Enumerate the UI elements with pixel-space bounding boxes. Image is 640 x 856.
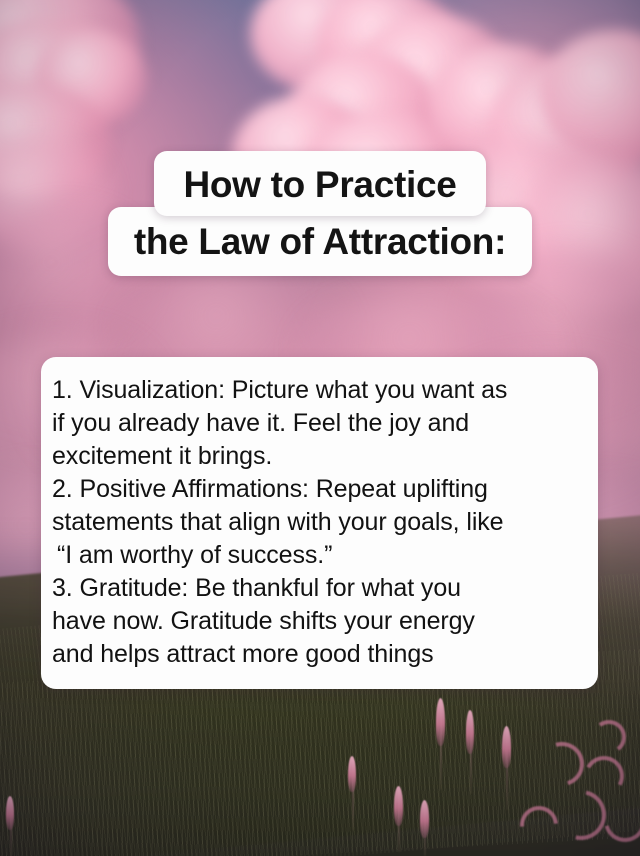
title-line-1: How to Practice: [154, 151, 485, 216]
tip-line: 2. Positive Affirmations: Repeat uplifti…: [52, 473, 578, 506]
title-block: How to Practice the Law of Attraction:: [0, 151, 640, 276]
tips-card: 1. Visualization: Picture what you want …: [41, 357, 598, 689]
tip-line: and helps attract more good things: [52, 638, 578, 671]
tip-line: have now. Gratitude shifts your energy: [52, 605, 578, 638]
flower-spike: [6, 796, 14, 830]
tip-line: if you already have it. Feel the joy and: [52, 407, 578, 440]
poster-canvas: How to Practice the Law of Attraction: 1…: [0, 0, 640, 856]
tip-line: “I am worthy of success.”: [52, 539, 578, 572]
flower-spike: [436, 698, 445, 746]
tip-line: 3. Gratitude: Be thankful for what you: [52, 572, 578, 605]
title-line-2: the Law of Attraction:: [108, 207, 532, 276]
flower-spike: [394, 786, 403, 826]
flower-spike: [348, 756, 356, 792]
flower-spike: [502, 726, 511, 768]
tip-line: statements that align with your goals, l…: [52, 506, 578, 539]
tip-line: excitement it brings.: [52, 440, 578, 473]
flower-spike: [420, 800, 429, 838]
flower-spike: [466, 710, 474, 754]
tip-line: 1. Visualization: Picture what you want …: [52, 374, 578, 407]
